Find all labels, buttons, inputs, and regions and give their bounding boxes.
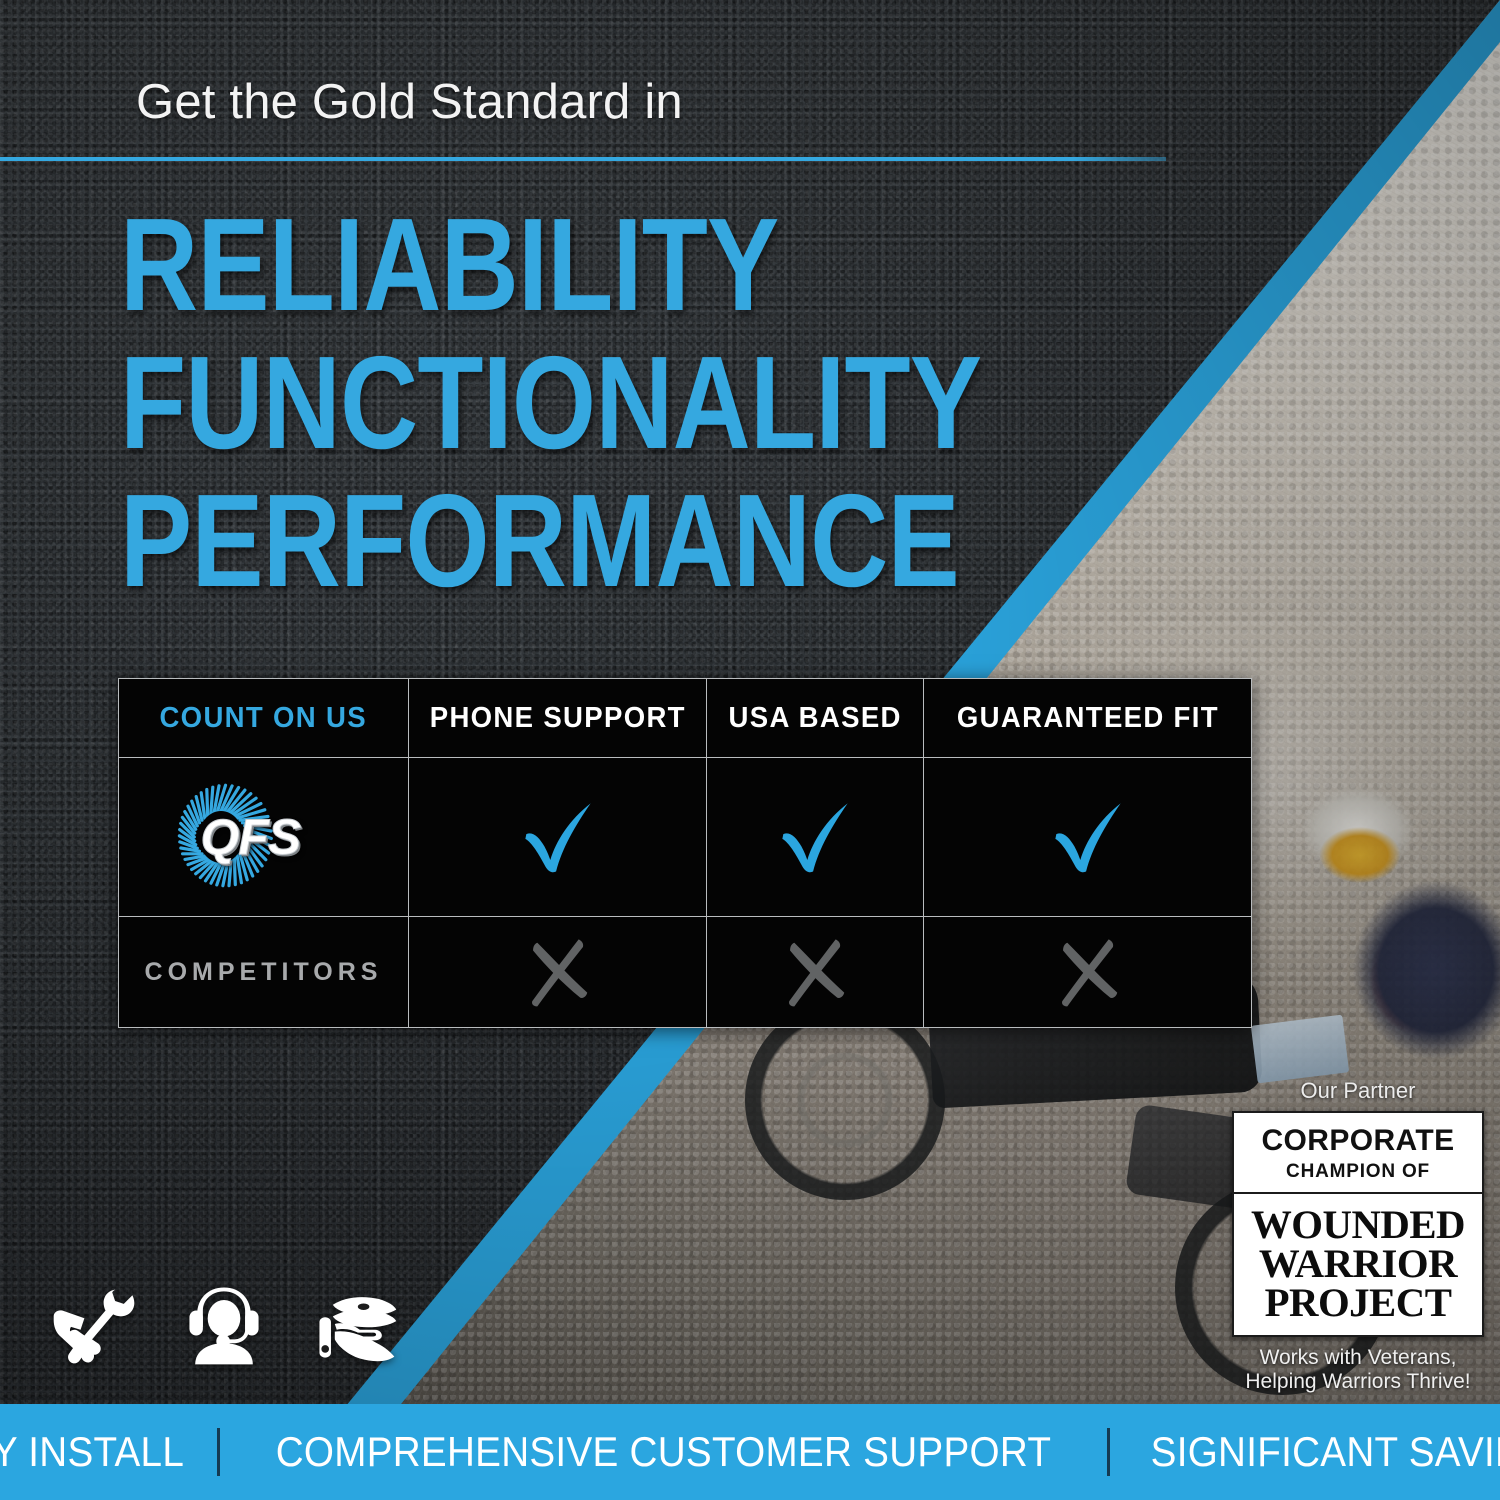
wounded-warrior-badge: CORPORATE CHAMPION OF WOUNDED WARRIOR PR… [1232,1111,1484,1337]
comparison-table: COUNT ON US PHONE SUPPORT USA BASED GUAR… [118,678,1252,1028]
kicker-text: Get the Gold Standard in [136,74,683,130]
table-header-row: COUNT ON US PHONE SUPPORT USA BASED GUAR… [119,679,1251,757]
table-header-cell-phone-support: PHONE SUPPORT [408,679,706,757]
table-cell-qfs-phone-support [408,758,706,916]
badge-word-wounded: WOUNDED [1238,1205,1479,1244]
banner-item-savings: SIGNIFICANT SAVINGS [1151,1428,1500,1476]
badge-bottom-section: WOUNDED WARRIOR PROJECT [1234,1194,1482,1335]
service-icons-group [46,1276,402,1372]
headline-divider-rule [0,157,1166,161]
checkmark-icon [767,789,863,885]
cross-icon [1045,929,1131,1015]
promo-graphic: Get the Gold Standard in RELIABILITY FUN… [0,0,1500,1500]
headline-line-1: RELIABILITY [120,196,940,334]
banner-item-easy-install: EASY INSTALL [0,1428,184,1476]
badge-word-warrior: WARRIOR [1238,1244,1479,1283]
qfs-logo: QFS [159,776,369,898]
headline-line-2: FUNCTIONALITY [120,334,940,472]
column-header-label: GUARANTEED FIT [957,702,1219,735]
table-row: QFS [119,757,1251,916]
bottom-banner: EASY INSTALL COMPREHENSIVE CUSTOMER SUPP… [0,1404,1500,1500]
table-row: COMPETITORS [119,916,1251,1027]
partner-label: Our Partner [1232,1078,1484,1104]
table-header-cell-brand: COUNT ON US [119,679,408,757]
table-cell-qfs-usa-based [706,758,923,916]
table-header-cell-guaranteed-fit: GUARANTEED FIT [923,679,1251,757]
table-header-cell-usa-based: USA BASED [706,679,923,757]
cross-icon [515,929,601,1015]
page-title: RELIABILITY FUNCTIONALITY PERFORMANCE [120,196,1120,610]
column-header-label: COUNT ON US [160,702,367,735]
badge-word-project: PROJECT [1238,1283,1479,1322]
banner-separator [1107,1428,1110,1476]
hand-money-icon [306,1276,402,1372]
banner-separator [217,1428,220,1476]
headline-line-3: PERFORMANCE [120,472,940,610]
partner-tagline-line-2: Helping Warriors Thrive! [1232,1370,1484,1395]
checkmark-icon [510,789,606,885]
column-header-label: PHONE SUPPORT [429,702,685,735]
partner-tagline: Works with Veterans, Helping Warriors Th… [1232,1346,1484,1396]
column-header-label: USA BASED [728,702,901,735]
table-cell-competitors-guaranteed-fit [923,917,1251,1027]
badge-top-section: CORPORATE CHAMPION OF [1234,1113,1482,1194]
badge-corporate-text: CORPORATE [1240,1126,1476,1156]
partner-tagline-line-1: Works with Veterans, [1232,1346,1484,1371]
qfs-wordmark: QFS [201,808,301,866]
row-label: COMPETITORS [145,958,383,987]
table-cell-competitors-label: COMPETITORS [119,917,408,1027]
banner-item-customer-support: COMPREHENSIVE CUSTOMER SUPPORT [276,1428,1051,1476]
badge-champion-text: CHAMPION OF [1240,1162,1476,1181]
table-cell-competitors-usa-based [706,917,923,1027]
table-cell-qfs-guaranteed-fit [923,758,1251,916]
headset-support-icon [176,1276,272,1372]
hand-wrench-icon [46,1276,142,1372]
cross-icon [772,929,858,1015]
table-cell-competitors-phone-support [408,917,706,1027]
table-cell-qfs-logo: QFS [119,758,408,916]
checkmark-icon [1040,789,1136,885]
partner-badge-block: Our Partner CORPORATE CHAMPION OF WOUNDE… [1232,1078,1484,1395]
